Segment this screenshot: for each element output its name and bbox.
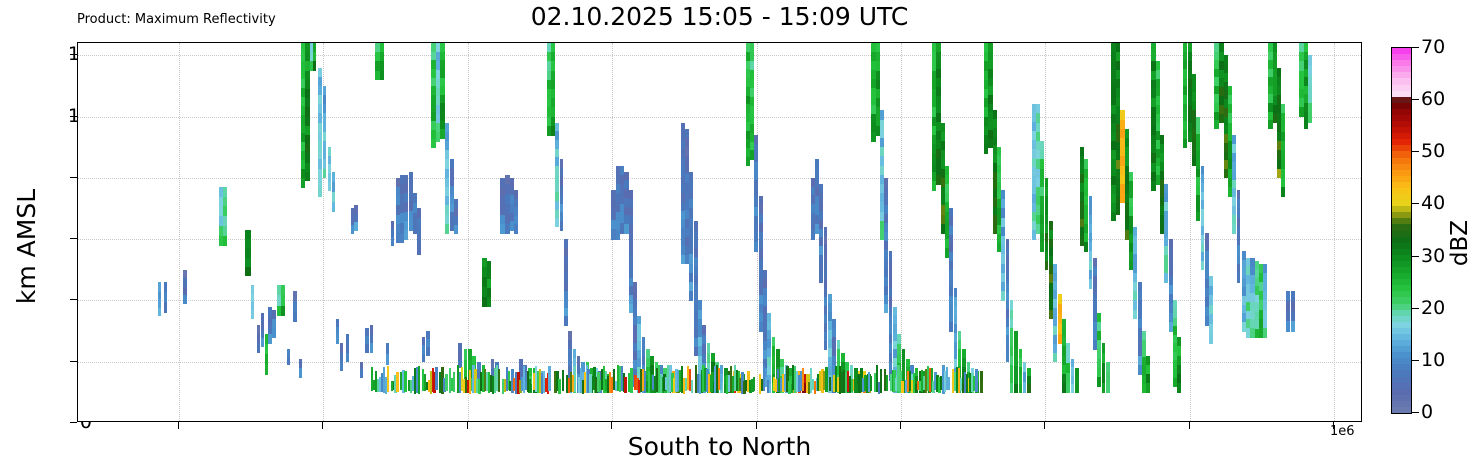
data-column	[828, 43, 832, 421]
data-cell	[281, 306, 285, 317]
colorbar-tick-mark	[1412, 47, 1419, 48]
data-column	[495, 43, 499, 421]
data-column	[945, 43, 949, 421]
x-tick-mark	[1044, 422, 1045, 429]
data-column	[889, 43, 893, 421]
data-cell	[1089, 279, 1093, 289]
data-cell	[1102, 383, 1105, 393]
data-column	[798, 43, 801, 421]
low-level-echo-segment	[753, 377, 755, 391]
data-column	[832, 43, 836, 421]
data-column	[780, 43, 784, 421]
data-cell	[629, 304, 633, 313]
data-column	[867, 43, 871, 421]
data-column	[245, 43, 250, 421]
data-column	[1093, 43, 1097, 421]
data-column	[440, 43, 444, 421]
low-level-echo-segment	[630, 368, 632, 393]
data-column	[642, 43, 645, 421]
data-cell	[426, 347, 430, 356]
data-column	[523, 43, 526, 421]
y-tick-mark	[70, 422, 77, 423]
plot-area	[77, 42, 1362, 422]
x-tick-mark	[756, 422, 757, 429]
data-cell	[1062, 383, 1066, 393]
x-tick-mark	[900, 422, 901, 429]
data-column	[958, 43, 961, 421]
data-cell	[468, 360, 472, 371]
data-cell	[251, 310, 254, 319]
low-level-echo-segment	[558, 379, 560, 394]
data-column	[564, 43, 568, 421]
low-level-echo-segment	[839, 366, 841, 393]
data-cell	[313, 61, 317, 71]
data-cell	[711, 353, 715, 364]
low-level-echo-segment	[854, 370, 856, 392]
data-cell	[1286, 321, 1290, 332]
data-cell	[1291, 291, 1295, 302]
colorbar-tick-mark	[1412, 412, 1419, 413]
data-column	[1010, 43, 1013, 421]
y-tick-mark	[70, 299, 77, 300]
data-column	[491, 43, 494, 421]
data-cell	[413, 203, 417, 214]
data-cell	[1045, 261, 1049, 271]
data-column	[971, 43, 974, 421]
data-column	[845, 43, 849, 421]
data-column	[560, 43, 564, 421]
data-cell	[1023, 372, 1026, 383]
low-level-echo-segment	[541, 373, 543, 393]
data-cell	[1237, 273, 1241, 283]
data-column	[858, 43, 862, 421]
data-column	[837, 43, 840, 421]
data-column	[598, 43, 602, 421]
data-cell	[413, 213, 417, 224]
colorbar-tick-label: 40	[1421, 192, 1445, 214]
data-cell	[980, 371, 984, 382]
data-column	[426, 43, 430, 421]
data-column	[776, 43, 780, 421]
data-cell	[1281, 187, 1285, 197]
data-column	[1014, 43, 1018, 421]
data-cell	[759, 322, 763, 332]
data-column	[728, 43, 732, 421]
data-cell	[1023, 382, 1026, 393]
data-cell	[1097, 377, 1101, 387]
data-cell	[1263, 328, 1267, 338]
low-level-echo-segment	[589, 374, 591, 393]
data-cell	[183, 295, 186, 304]
colorbar-tick-label: 60	[1421, 88, 1445, 110]
data-column	[519, 43, 523, 421]
data-column	[824, 43, 828, 421]
data-cell	[967, 362, 971, 373]
data-cell	[454, 225, 458, 234]
data-cell	[1177, 383, 1180, 393]
data-cell	[1205, 316, 1209, 326]
data-column	[318, 43, 322, 421]
data-column	[707, 43, 710, 421]
data-cell	[1164, 273, 1168, 283]
data-column	[767, 43, 771, 421]
data-column	[1023, 43, 1026, 421]
data-column	[1045, 43, 1049, 421]
data-column	[711, 43, 715, 421]
data-cell	[158, 308, 161, 317]
data-column	[183, 43, 186, 421]
data-column	[346, 43, 349, 421]
data-column	[1066, 43, 1069, 421]
data-column	[1138, 43, 1142, 421]
data-column	[417, 43, 421, 421]
data-column	[724, 43, 728, 421]
x-tick-mark	[467, 422, 468, 429]
data-column	[251, 43, 254, 421]
data-column	[607, 43, 610, 421]
y-tick-mark	[70, 361, 77, 362]
low-level-echo-segment	[886, 375, 888, 391]
data-cell	[293, 312, 297, 323]
data-column	[1308, 43, 1312, 421]
low-level-echo-segment	[802, 368, 804, 391]
data-cell	[1049, 310, 1053, 320]
data-cell	[1232, 224, 1236, 234]
data-column	[737, 43, 741, 421]
data-cell	[1169, 322, 1173, 332]
data-cell	[514, 224, 518, 233]
data-column	[655, 43, 658, 421]
data-cell	[949, 322, 953, 331]
data-cell	[417, 245, 421, 255]
data-cell	[346, 353, 349, 363]
data-cell	[980, 382, 984, 393]
data-column	[577, 43, 580, 421]
data-column	[164, 43, 167, 421]
data-column	[472, 43, 475, 421]
y-tick-mark	[70, 238, 77, 239]
data-cell	[1066, 383, 1069, 393]
radar-cross-section-figure: Product: Maximum Reflectivity 02.10.2025…	[0, 0, 1482, 470]
data-cell	[884, 304, 888, 314]
data-cell	[293, 301, 297, 312]
data-cell	[413, 193, 417, 204]
data-column	[272, 43, 276, 421]
data-column	[650, 43, 654, 421]
data-cell	[360, 369, 363, 377]
data-column	[1001, 43, 1005, 421]
data-cell	[340, 362, 343, 372]
data-column	[391, 43, 394, 421]
data-cell	[1286, 311, 1290, 322]
data-cell	[336, 335, 339, 344]
data-column	[375, 43, 379, 421]
data-column	[1209, 43, 1213, 421]
data-cell	[1106, 362, 1110, 373]
data-cell	[281, 295, 285, 306]
data-column	[450, 43, 454, 421]
data-cell	[1053, 353, 1057, 363]
data-cell	[164, 302, 167, 313]
data-cell	[1027, 384, 1031, 393]
colorbar-tick-mark	[1412, 203, 1419, 204]
data-column	[287, 43, 290, 421]
data-cell	[1075, 384, 1079, 393]
data-cell	[1209, 334, 1213, 344]
colorbar-segment	[1392, 407, 1411, 414]
data-column	[603, 43, 607, 421]
data-column	[1006, 43, 1010, 421]
data-cell	[1291, 301, 1295, 312]
data-cell	[375, 71, 379, 81]
data-column	[1133, 43, 1137, 421]
data-column	[1071, 43, 1075, 421]
data-column	[340, 43, 343, 421]
low-level-echo-segment	[901, 381, 903, 394]
low-level-echo-segment	[691, 380, 693, 394]
data-column	[1075, 43, 1079, 421]
colorbar-tick-mark	[1412, 256, 1419, 257]
data-column	[659, 43, 663, 421]
data-column	[967, 43, 971, 421]
data-column	[528, 43, 532, 421]
data-cell	[365, 344, 369, 353]
colorbar-tick-label: 10	[1421, 349, 1445, 371]
data-column	[915, 43, 919, 421]
data-column	[514, 43, 518, 421]
data-cell	[464, 349, 468, 360]
data-column	[1291, 43, 1295, 421]
data-column	[1019, 43, 1023, 421]
data-column	[928, 43, 932, 421]
data-cell	[380, 71, 384, 81]
data-column	[962, 43, 966, 421]
data-column	[1089, 43, 1093, 421]
low-level-echo-segment	[435, 367, 437, 391]
data-cell	[413, 223, 417, 234]
data-column	[323, 43, 327, 421]
data-column	[1183, 43, 1188, 421]
data-column	[1205, 43, 1209, 421]
data-cell	[450, 221, 454, 230]
data-column	[1106, 43, 1110, 421]
data-column	[293, 43, 297, 421]
data-cell	[500, 224, 504, 234]
x-axis-label: South to North	[77, 432, 1362, 461]
data-column	[1102, 43, 1105, 421]
low-level-echo-segment	[387, 366, 389, 393]
data-cell	[841, 353, 845, 364]
data-column	[676, 43, 680, 421]
data-cell	[1001, 291, 1005, 301]
data-column	[281, 43, 285, 421]
data-column	[370, 43, 373, 421]
data-cell	[1006, 353, 1010, 362]
chart-title: 02.10.2025 15:05 - 15:09 UTC	[77, 2, 1362, 31]
low-level-echo-segment	[396, 372, 398, 392]
data-cell	[164, 282, 167, 293]
data-column	[360, 43, 363, 421]
low-level-echo-segment	[788, 381, 790, 394]
grid-line-vertical	[1334, 43, 1335, 421]
data-cell	[440, 129, 444, 138]
data-column	[313, 43, 317, 421]
data-cell	[1019, 384, 1023, 393]
data-column	[468, 43, 472, 421]
data-cell	[468, 349, 472, 360]
low-level-echo-segment	[498, 369, 500, 392]
data-cell	[1093, 340, 1097, 350]
data-column	[720, 43, 723, 421]
data-column	[1097, 43, 1101, 421]
data-cell	[422, 354, 425, 363]
data-column	[1259, 43, 1263, 421]
data-column	[954, 43, 958, 421]
data-column	[997, 43, 1001, 421]
data-cell	[564, 316, 568, 325]
data-column	[1169, 43, 1173, 421]
data-cell	[328, 182, 331, 191]
data-cell	[560, 221, 564, 230]
data-column	[581, 43, 585, 421]
data-column	[802, 43, 806, 421]
data-column	[897, 43, 900, 421]
data-column	[863, 43, 866, 421]
data-column	[919, 43, 923, 421]
data-cell	[164, 292, 167, 303]
x-tick-mark	[1189, 422, 1190, 429]
data-cell	[158, 282, 161, 292]
colorbar-tick-mark	[1412, 99, 1419, 100]
data-column	[980, 43, 984, 421]
data-cell	[287, 357, 290, 365]
data-column	[1027, 43, 1031, 421]
colorbar-tick-mark	[1412, 308, 1419, 309]
data-column	[336, 43, 339, 421]
data-cell	[1308, 113, 1312, 123]
data-cell	[945, 248, 949, 258]
x-tick-mark	[322, 422, 323, 429]
data-cell	[293, 291, 297, 302]
data-column	[568, 43, 572, 421]
data-column	[1062, 43, 1066, 421]
low-level-echo-segment	[767, 380, 769, 393]
data-column	[1146, 43, 1150, 421]
low-level-echo-segment	[870, 376, 872, 391]
data-cell	[1173, 378, 1177, 387]
low-level-echo-segment	[574, 366, 576, 392]
low-level-echo-segment	[523, 366, 525, 393]
low-level-echo-segment	[975, 369, 977, 391]
data-column	[573, 43, 577, 421]
data-column	[1263, 43, 1267, 421]
data-column	[850, 43, 853, 421]
data-column	[464, 43, 468, 421]
data-column	[158, 43, 161, 421]
low-level-echo-segment	[948, 377, 950, 391]
data-column	[923, 43, 926, 421]
data-column	[1201, 43, 1205, 421]
data-column	[1129, 43, 1133, 421]
colorbar	[1391, 47, 1412, 414]
data-column	[1173, 43, 1177, 421]
data-column	[590, 43, 593, 421]
data-column	[594, 43, 598, 421]
low-level-echo-segment	[529, 379, 531, 392]
data-cell	[1146, 383, 1150, 393]
data-cell	[257, 343, 260, 353]
data-cell	[1111, 212, 1116, 221]
data-column	[637, 43, 641, 421]
grid-line-vertical	[179, 43, 180, 421]
data-column	[533, 43, 537, 421]
colorbar-tick-label: 70	[1421, 36, 1445, 58]
low-level-echo-segment	[418, 366, 420, 394]
data-cell	[261, 338, 264, 347]
data-column	[354, 43, 357, 421]
data-cell	[391, 237, 394, 246]
data-cell	[1014, 384, 1018, 393]
data-cell	[370, 343, 373, 353]
data-column	[806, 43, 810, 421]
data-column	[1164, 43, 1168, 421]
data-cell	[1106, 382, 1110, 393]
data-cell	[1138, 365, 1142, 375]
data-column	[672, 43, 676, 421]
data-column	[261, 43, 264, 421]
data-column	[1142, 43, 1145, 421]
data-cell	[223, 236, 227, 246]
data-column	[1232, 43, 1236, 421]
data-column	[633, 43, 637, 421]
low-level-echo-segment	[548, 366, 550, 391]
data-column	[772, 43, 775, 421]
low-level-echo-segment	[404, 371, 406, 392]
colorbar-tick-mark	[1412, 360, 1419, 361]
data-column	[975, 43, 979, 421]
data-column	[910, 43, 913, 421]
data-column	[1286, 43, 1290, 421]
data-column	[1237, 43, 1241, 421]
data-column	[422, 43, 425, 421]
data-column	[537, 43, 540, 421]
data-cell	[386, 354, 390, 365]
data-column	[841, 43, 845, 421]
data-cell	[1129, 261, 1133, 271]
data-cell	[1183, 139, 1188, 148]
data-column	[1281, 43, 1285, 421]
data-column	[223, 43, 227, 421]
data-cell	[1071, 384, 1075, 393]
data-cell	[997, 243, 1001, 252]
low-level-echo-segment	[960, 378, 962, 391]
data-column	[884, 43, 888, 421]
x-tick-mark	[178, 422, 179, 429]
data-cell	[1010, 383, 1013, 393]
data-column	[541, 43, 545, 421]
data-column	[741, 43, 745, 421]
data-cell	[354, 222, 357, 231]
low-level-echo-segment	[562, 370, 564, 391]
x-axis-offset-text: 1e6	[1330, 424, 1355, 439]
data-column	[949, 43, 953, 421]
data-cell	[272, 328, 276, 338]
data-cell	[1291, 321, 1295, 332]
data-column	[715, 43, 719, 421]
low-level-echo-segment	[763, 366, 765, 391]
data-column	[1049, 43, 1053, 421]
colorbar-label: dBZ	[1447, 220, 1473, 266]
